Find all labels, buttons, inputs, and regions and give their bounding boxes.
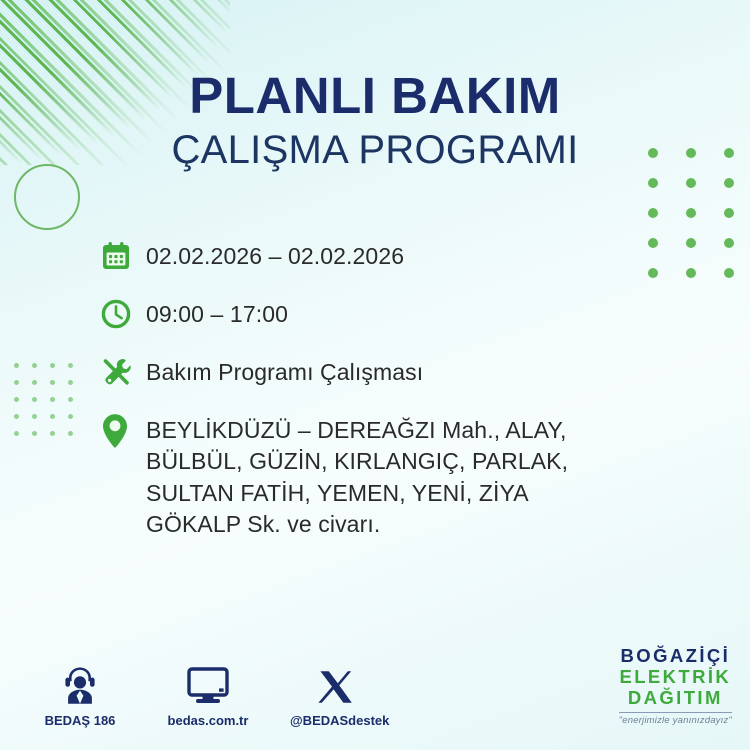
- x-twitter-icon: [290, 660, 382, 706]
- circle-outline-decoration: [14, 164, 80, 230]
- brand-tagline: "enerjimizle yanınızdayız": [619, 712, 732, 726]
- contact-website[interactable]: bedas.com.tr: [162, 660, 254, 728]
- detail-row-work-type: Bakım Programı Çalışması: [100, 351, 670, 393]
- contact-phone[interactable]: BEDAŞ 186: [34, 660, 126, 728]
- dot-grid-left-decoration: [14, 363, 86, 448]
- page-subtitle: ÇALIŞMA PROGRAMI: [0, 130, 750, 170]
- date-range-text: 02.02.2026 – 02.02.2026: [146, 235, 404, 272]
- location-line: BÜLBÜL, GÜZİN, KIRLANGIÇ, PARLAK,: [146, 446, 568, 477]
- poster-canvas: PLANLI BAKIM ÇALIŞMA PROGRAMI: [0, 0, 750, 750]
- time-range-text: 09:00 – 17:00: [146, 293, 288, 330]
- location-line: SULTAN FATİH, YEMEN, YENİ, ZİYA: [146, 478, 568, 509]
- contact-phone-label: BEDAŞ 186: [34, 713, 126, 728]
- location-text: BEYLİKDÜZÜ – DEREAĞZI Mah., ALAY, BÜLBÜL…: [146, 409, 568, 540]
- maintenance-details-list: 02.02.2026 – 02.02.2026 09:00 – 17:00: [100, 235, 670, 556]
- detail-row-location: BEYLİKDÜZÜ – DEREAĞZI Mah., ALAY, BÜLBÜL…: [100, 409, 670, 540]
- contact-website-label: bedas.com.tr: [162, 713, 254, 728]
- location-line: BEYLİKDÜZÜ – DEREAĞZI Mah., ALAY,: [146, 415, 568, 446]
- brand-line-dagitim: DAĞITIM: [619, 688, 732, 709]
- brand-line-elektrik: ELEKTRİK: [619, 667, 732, 688]
- footer-contacts: BEDAŞ 186 bedas.com.tr @BEDASdestek: [34, 660, 382, 728]
- headset-support-icon: [34, 660, 126, 706]
- location-pin-icon: [100, 409, 146, 451]
- brand-logo: BOĞAZİÇİ ELEKTRİK DAĞITIM "enerjimizle y…: [619, 646, 732, 726]
- tools-icon: [100, 351, 146, 393]
- detail-row-date: 02.02.2026 – 02.02.2026: [100, 235, 670, 277]
- calendar-icon: [100, 235, 146, 277]
- monitor-website-icon: [162, 660, 254, 706]
- contact-social[interactable]: @BEDASdestek: [290, 660, 382, 728]
- detail-row-time: 09:00 – 17:00: [100, 293, 670, 335]
- work-type-text: Bakım Programı Çalışması: [146, 351, 423, 388]
- clock-icon: [100, 293, 146, 335]
- brand-line-bogazici: BOĞAZİÇİ: [619, 646, 732, 667]
- page-title: PLANLI BAKIM: [0, 70, 750, 121]
- poster-header: PLANLI BAKIM ÇALIŞMA PROGRAMI: [0, 70, 750, 170]
- location-line: GÖKALP Sk. ve civarı.: [146, 509, 568, 540]
- contact-social-label: @BEDASdestek: [290, 713, 382, 728]
